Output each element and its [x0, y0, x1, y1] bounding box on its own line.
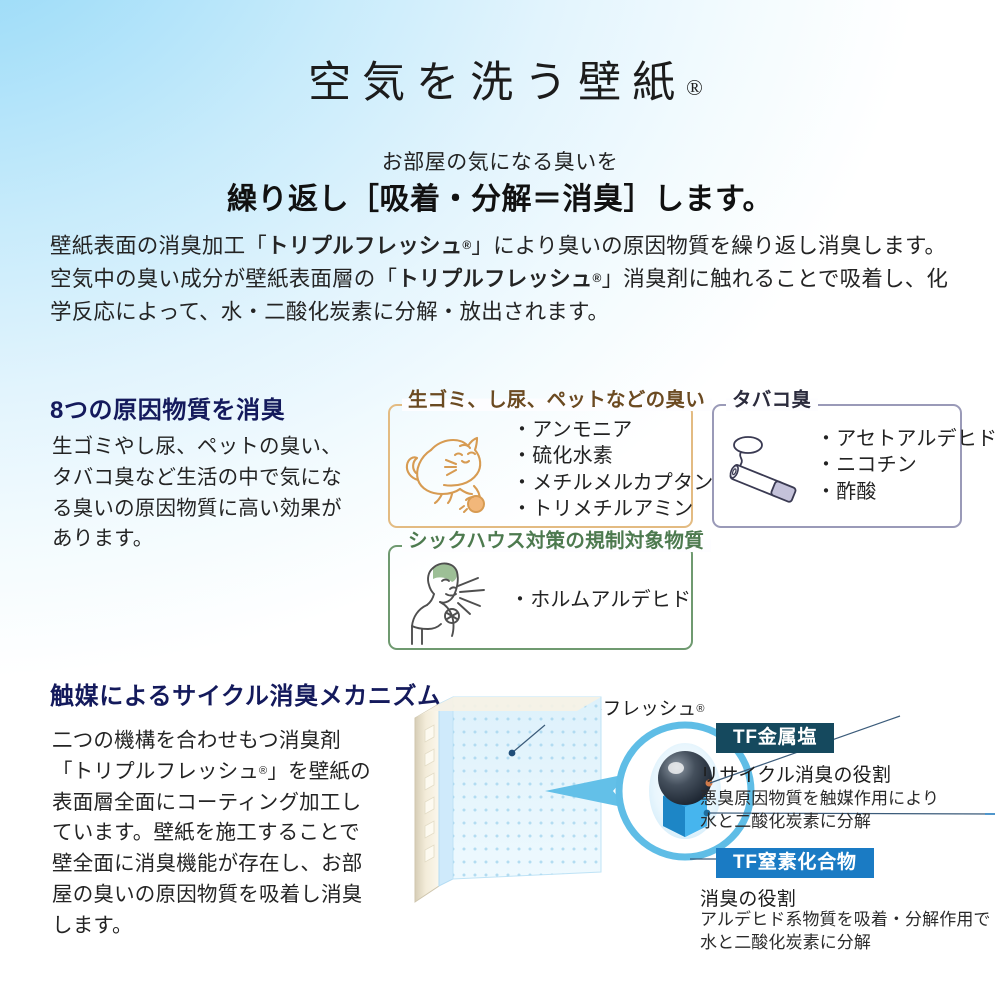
callout-title-nitro: 消臭の役割 [700, 884, 796, 911]
lead-paragraph: 壁紙表面の消臭加工「トリプルフレッシュ®」により臭いの原因物質を繰り返し消臭しま… [50, 230, 958, 329]
odor-box-sickhouse-items: ・ホルムアルデヒド [510, 587, 691, 613]
list-item: ・アンモニア [512, 417, 713, 443]
registered-mark-icon: ® [686, 75, 703, 100]
odor-box-sickhouse-legend: シックハウス対策の規制対象物質 [402, 532, 711, 552]
list-item: ・メチルメルカプタン [512, 470, 713, 496]
wallpaper-slab-icon [415, 697, 601, 902]
subtitle-large: 繰り返し［吸着・分解＝消臭］します。 [0, 174, 1000, 218]
mech-para-b: 」を壁紙の表面層全面にコーティング加工しています。壁紙を施工することで壁全面に消… [52, 760, 371, 937]
cat-icon [398, 424, 502, 521]
list-item: ・トリメチルアミン [512, 496, 713, 522]
list-item: ・酢酸 [816, 479, 997, 505]
poster-canvas: 空気を洗う壁紙® お部屋の気になる臭いを 繰り返し［吸着・分解＝消臭］します。 … [0, 0, 1000, 1000]
badge-tf-metal-salt: TF金属塩 [716, 723, 834, 753]
list-item: ・ニコチン [816, 452, 997, 478]
lead-part-1: 壁紙表面の消臭加工「 [50, 234, 267, 258]
list-item: ・アセトアルデヒド [816, 426, 997, 452]
coughing-man-icon [400, 556, 500, 653]
page-title: 空気を洗う壁紙® [0, 48, 1000, 110]
mechanism-section-heading: 触媒によるサイクル消臭メカニズム [50, 676, 442, 711]
callout-body-nitro: アルデヒド系物質を吸着・分解作用で 水と二酸化炭素に分解 [700, 908, 991, 955]
registered-mark-icon: ® [593, 271, 602, 285]
cigarette-icon [722, 432, 808, 515]
odor-box-kitchen-legend: 生ゴミ、し尿、ペットなどの臭い [402, 391, 712, 411]
list-item: ・ホルムアルデヒド [510, 587, 691, 613]
odor-box-kitchen-items: ・アンモニア ・硫化水素 ・メチルメルカプタン ・トリメチルアミン [512, 417, 713, 523]
lead-brand-1: トリプルフレッシュ [267, 234, 462, 258]
odor-box-tobacco-items: ・アセトアルデヒド ・ニコチン ・酢酸 [816, 426, 997, 505]
lead-brand-2: トリプルフレッシュ [397, 267, 592, 291]
mechanism-section-paragraph: 二つの機構を合わせもつ消臭剤「トリプルフレッシュ®」を壁紙の表面層全面にコーティ… [52, 726, 372, 941]
list-item: ・硫化水素 [512, 443, 713, 469]
mech-para-brand: トリプルフレッシュ [73, 760, 259, 783]
odor-section-heading: 8つの原因物質を消臭 [50, 390, 285, 425]
odor-box-tobacco-legend: タバコ臭 [726, 391, 818, 411]
callout-title-metal: リサイクル消臭の役割 [700, 760, 891, 787]
page-title-text: 空気を洗う壁紙 [308, 60, 686, 107]
badge-tf-nitrogen-compound: TF窒素化合物 [716, 848, 874, 878]
subtitle-small: お部屋の気になる臭いを [0, 146, 1000, 176]
callout-body-metal: 悪臭原因物質を触媒作用により 水と二酸化炭素に分解 [700, 787, 939, 834]
odor-section-paragraph: 生ゴミやし尿、ペットの臭い、タバコ臭など生活の中で気になる臭いの原因物質に高い効… [52, 432, 352, 555]
